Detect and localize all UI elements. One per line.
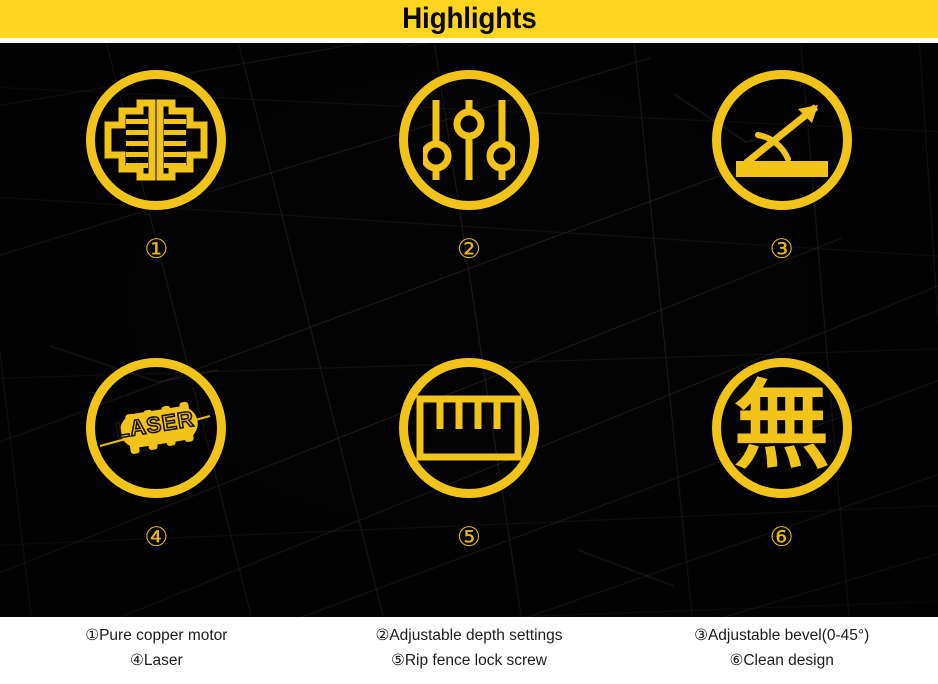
feature-cell-depth: ② (313, 43, 626, 330)
feature-cell-clean: 無 ⑥ (625, 330, 938, 617)
depth-sliders-icon (399, 70, 539, 210)
caption-column-2: ②Adjustable depth settings ⑤Rip fence lo… (313, 623, 626, 673)
header-banner: Highlights (0, 0, 938, 38)
laser-icon: LASER (86, 358, 226, 498)
feature-badge: ⑥ (770, 524, 794, 551)
caption-text: ②Adjustable depth settings (375, 623, 562, 648)
highlights-page: Highlights (0, 0, 938, 684)
copper-motor-icon (86, 70, 226, 210)
caption-column-1: ①Pure copper motor ④Laser (0, 623, 313, 673)
feature-badge: ② (457, 236, 481, 263)
page-title: Highlights (402, 4, 537, 34)
feature-panel: ① (0, 43, 938, 617)
feature-cell-bevel: ③ (625, 43, 938, 330)
caption-text: ④Laser (130, 648, 183, 673)
caption-text: ⑤Rip fence lock screw (391, 648, 547, 673)
feature-badge: ③ (770, 236, 794, 263)
ruler-icon (399, 358, 539, 498)
feature-badge: ④ (144, 524, 168, 551)
caption-text: ③Adjustable bevel(0-45°) (694, 623, 869, 648)
caption-column-3: ③Adjustable bevel(0-45°) ⑥Clean design (625, 623, 938, 673)
clean-design-glyph: 無 (734, 378, 830, 474)
caption-text: ⑥Clean design (729, 648, 833, 673)
caption-strip: ①Pure copper motor ④Laser ②Adjustable de… (0, 617, 938, 684)
feature-badge: ① (144, 236, 168, 263)
clean-design-icon: 無 (712, 358, 852, 498)
feature-cell-ruler: ⑤ (313, 330, 626, 617)
caption-text: ①Pure copper motor (85, 623, 227, 648)
feature-grid: ① (0, 43, 938, 617)
feature-cell-motor: ① (0, 43, 313, 330)
feature-badge: ⑤ (457, 524, 481, 551)
bevel-angle-icon (712, 70, 852, 210)
feature-cell-laser: LASER ④ (0, 330, 313, 617)
